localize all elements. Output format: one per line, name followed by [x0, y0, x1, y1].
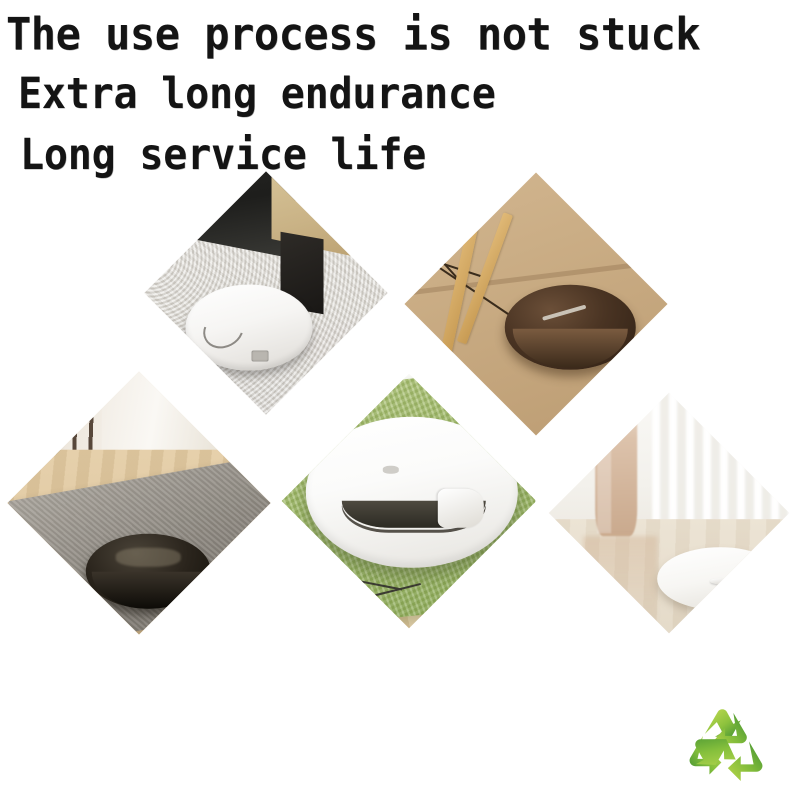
robot-vacuum	[86, 534, 211, 609]
robot-vacuum	[658, 547, 784, 610]
recycle-arrow-bottom-right	[728, 741, 763, 781]
recycle-badge	[676, 700, 776, 792]
collage-tile-top-right	[404, 172, 667, 435]
robot-side-button	[725, 594, 736, 597]
person-legs	[595, 393, 638, 536]
photo-brown-robot-tan-floor	[404, 172, 667, 435]
headline-line-3: Long service life	[20, 131, 426, 180]
robot-port	[251, 350, 269, 361]
headline-line-2: Extra long endurance	[18, 70, 496, 119]
robot-power-button	[382, 466, 399, 474]
chair-wire-a	[425, 242, 460, 280]
collage-tile-bottom-center	[282, 374, 537, 629]
robot-top-detail	[116, 548, 181, 567]
photo-white-lidar-robot-wood-floor	[549, 393, 789, 633]
recycle-icon	[676, 700, 776, 792]
collage-tile-bottom-right	[549, 393, 789, 633]
photo-black-robot-gray-rug	[7, 371, 270, 634]
robot-top-bar	[542, 304, 586, 320]
image-collage	[0, 185, 800, 665]
collage-tile-bottom-left	[7, 371, 270, 634]
lidar-turret	[710, 579, 730, 585]
robot-bumper	[437, 489, 484, 528]
collage-tile-top-left	[144, 171, 387, 414]
robot-vacuum	[306, 416, 518, 567]
robot-vacuum	[505, 285, 636, 369]
headline-line-1: The use process is not stuck	[6, 8, 700, 60]
floor-reflection	[583, 536, 657, 633]
photo-white-robot-shag-carpet	[144, 171, 387, 414]
robot-vacuum	[185, 284, 312, 371]
photo-white-robot-green-rug	[282, 374, 537, 629]
headline-block: The use process is not stuck Extra long …	[0, 0, 800, 190]
